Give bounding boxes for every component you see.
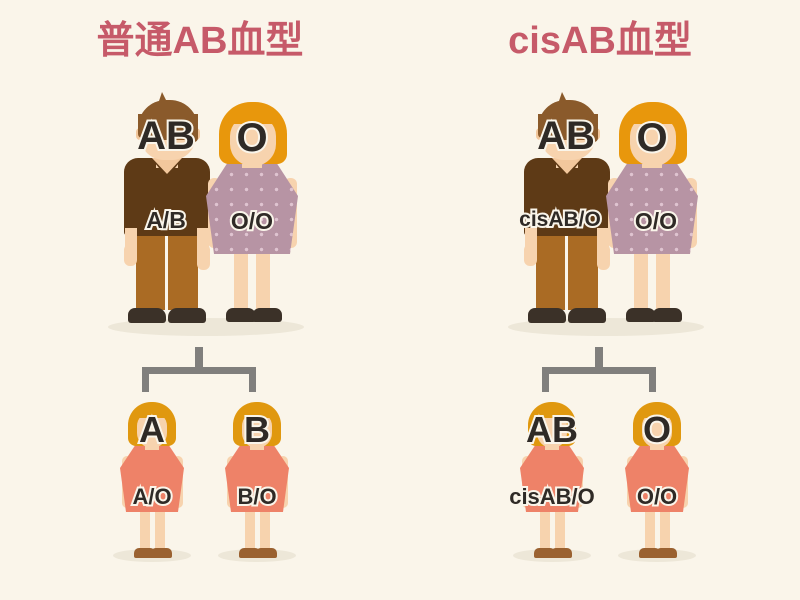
child-figure-1-normal-ab: A A/O	[118, 400, 186, 560]
child-1-leg-left	[540, 508, 550, 552]
child-1-leg-right	[555, 508, 565, 552]
panel-normal-ab: 普通AB血型	[0, 0, 400, 600]
child-2-blood-type-label: O	[607, 412, 707, 448]
child-1-shoe-right	[550, 548, 572, 558]
child-2-leg-right	[660, 508, 670, 552]
child-2-genotype-label: B/O	[197, 486, 317, 508]
child-2-leg-left	[245, 508, 255, 552]
child-1-leg-left	[140, 508, 150, 552]
child-2-shoe-right	[255, 548, 277, 558]
children-group-cis-ab: AB cisAB/O O O/O	[400, 0, 800, 600]
child-2-leg-right	[260, 508, 270, 552]
child-2-blood-type-label: B	[207, 412, 307, 448]
children-group-normal-ab: A A/O B B/O	[0, 0, 400, 600]
child-figure-2-normal-ab: B B/O	[223, 400, 291, 560]
blood-type-inheritance-diagram: 普通AB血型	[0, 0, 800, 600]
child-2-shoe-right	[655, 548, 677, 558]
child-1-leg-right	[155, 508, 165, 552]
child-figure-1-cis-ab: AB cisAB/O	[518, 400, 586, 560]
child-figure-2-cis-ab: O O/O	[623, 400, 691, 560]
child-1-shoe-right	[150, 548, 172, 558]
child-2-genotype-label: O/O	[597, 486, 717, 508]
child-1-genotype-label: A/O	[92, 486, 212, 508]
child-2-leg-left	[645, 508, 655, 552]
panel-cis-ab: cisAB血型	[400, 0, 800, 600]
child-1-blood-type-label: AB	[502, 412, 602, 448]
child-1-blood-type-label: A	[102, 412, 202, 448]
